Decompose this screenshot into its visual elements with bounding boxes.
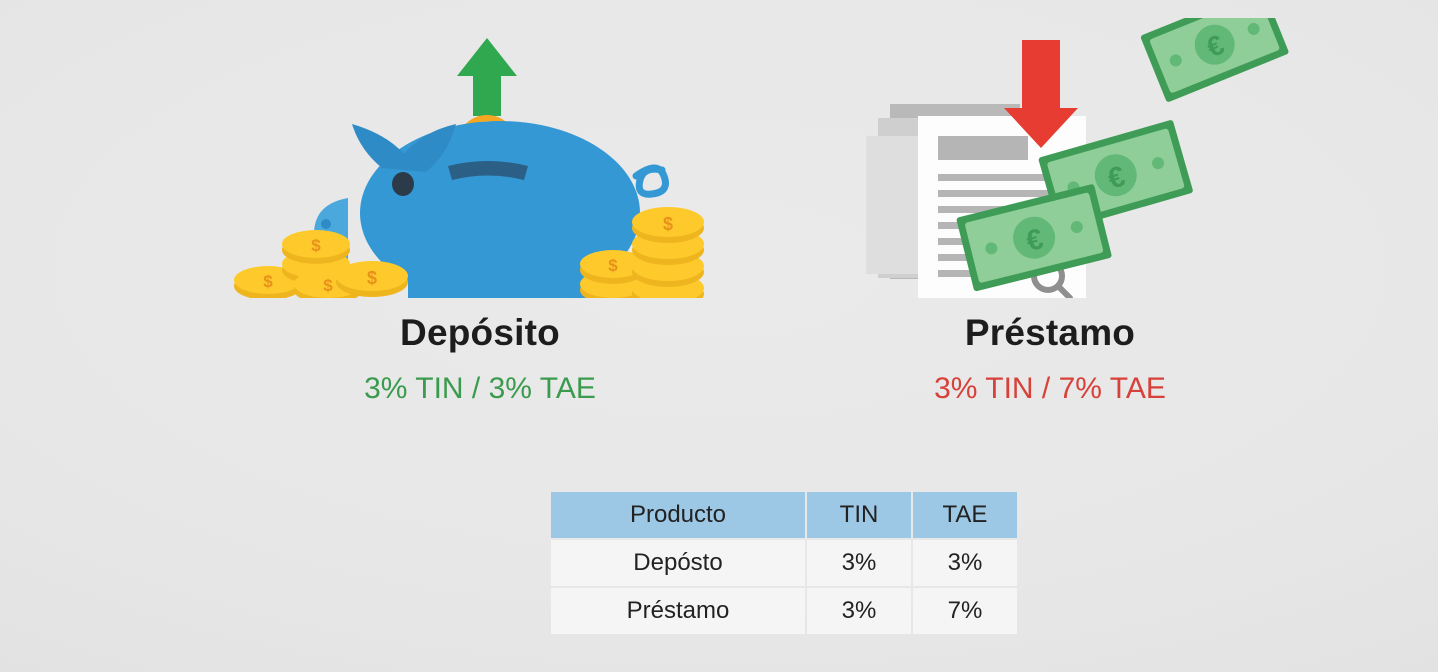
loan-document-icon: € € (770, 18, 1330, 298)
piggy-bank-icon: $ (200, 18, 760, 298)
svg-text:$: $ (311, 236, 321, 255)
cell-tae-prestamo: 7% (913, 588, 1017, 634)
cell-producto-deposto: Depósto (551, 540, 805, 586)
up-arrow-icon (457, 38, 517, 116)
panel-subtitle-prestamo: 3% TIN / 7% TAE (770, 372, 1330, 406)
piggy-bank-illustration: $ (200, 18, 760, 298)
svg-text:$: $ (323, 276, 333, 295)
panel-deposito: $ (200, 0, 760, 430)
table-row: Depósto 3% 3% (551, 540, 1017, 586)
doc-header-block (938, 136, 1028, 160)
panel-subtitle-deposito: 3% TIN / 3% TAE (200, 372, 760, 406)
rates-table: Producto TIN TAE Depósto 3% 3% Préstamo … (549, 490, 1019, 636)
loan-document-illustration: € € (770, 18, 1330, 298)
svg-text:$: $ (663, 214, 673, 234)
slide-canvas: $ (0, 0, 1438, 672)
column-header-tin: TIN (807, 492, 911, 538)
table-header-row: Producto TIN TAE (551, 492, 1017, 538)
column-header-producto: Producto (551, 492, 805, 538)
svg-text:$: $ (263, 272, 273, 291)
cell-tae-deposto: 3% (913, 540, 1017, 586)
svg-text:$: $ (367, 268, 377, 288)
panel-title-prestamo: Préstamo (770, 312, 1330, 354)
panel-title-deposito: Depósito (200, 312, 760, 354)
panel-prestamo: € € (770, 0, 1330, 430)
svg-text:$: $ (608, 256, 618, 275)
euro-banknote-top: € (1140, 18, 1289, 103)
cell-tin-prestamo: 3% (807, 588, 911, 634)
cell-producto-prestamo: Préstamo (551, 588, 805, 634)
table-row: Préstamo 3% 7% (551, 588, 1017, 634)
cell-tin-deposto: 3% (807, 540, 911, 586)
pig-tail (636, 168, 666, 194)
column-header-tae: TAE (913, 492, 1017, 538)
